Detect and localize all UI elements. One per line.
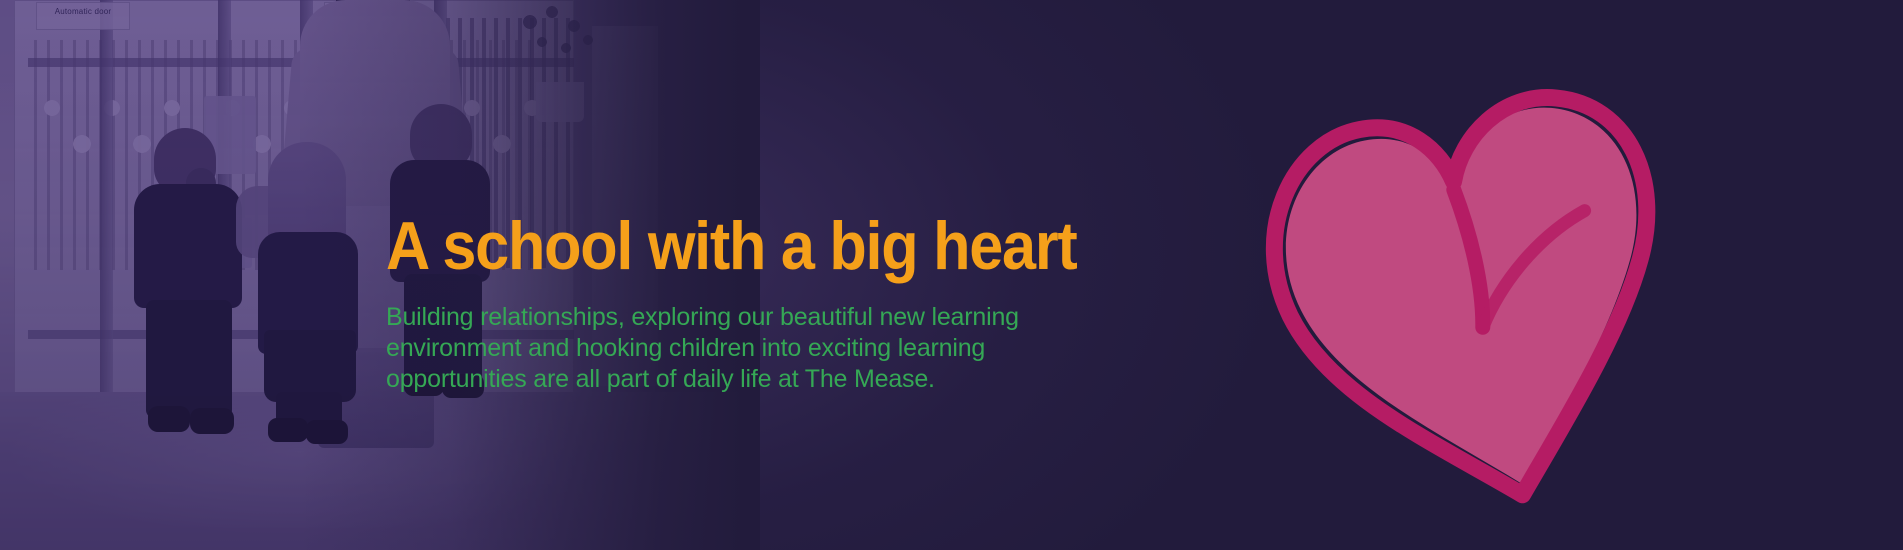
hero-subtitle: Building relationships, exploring our be…: [386, 302, 1076, 395]
heart-icon: [1255, 78, 1685, 518]
hero-heading: A school with a big heart: [386, 208, 1160, 284]
hero-banner: Automatic door Automatic door: [0, 0, 1903, 550]
hero-copy-block: A school with a big heart Building relat…: [386, 208, 1246, 395]
